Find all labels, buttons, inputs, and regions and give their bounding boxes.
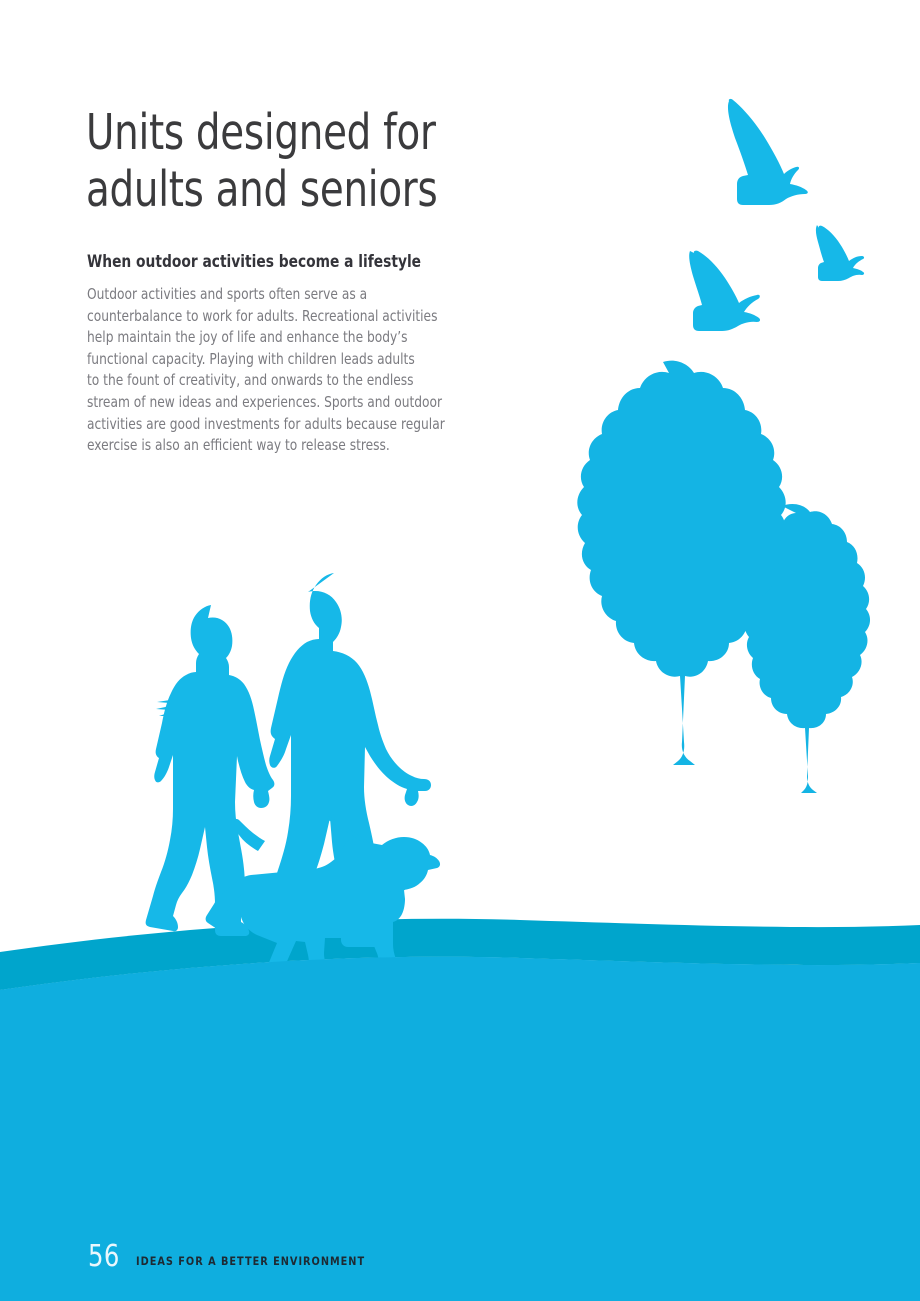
- page-title: Units designed for adults and seniors: [86, 104, 508, 218]
- section-subheading: When outdoor activities become a lifesty…: [87, 252, 487, 272]
- page-canvas: Units designed for adults and seniors Wh…: [0, 0, 920, 1301]
- page-number: 56: [88, 1242, 120, 1272]
- text-content: Units designed for adults and seniors Wh…: [0, 0, 920, 1301]
- footer-caption: IDEAS FOR A BETTER ENVIRONMENT: [136, 1255, 365, 1268]
- body-paragraph: Outdoor activities and sports often serv…: [87, 284, 455, 457]
